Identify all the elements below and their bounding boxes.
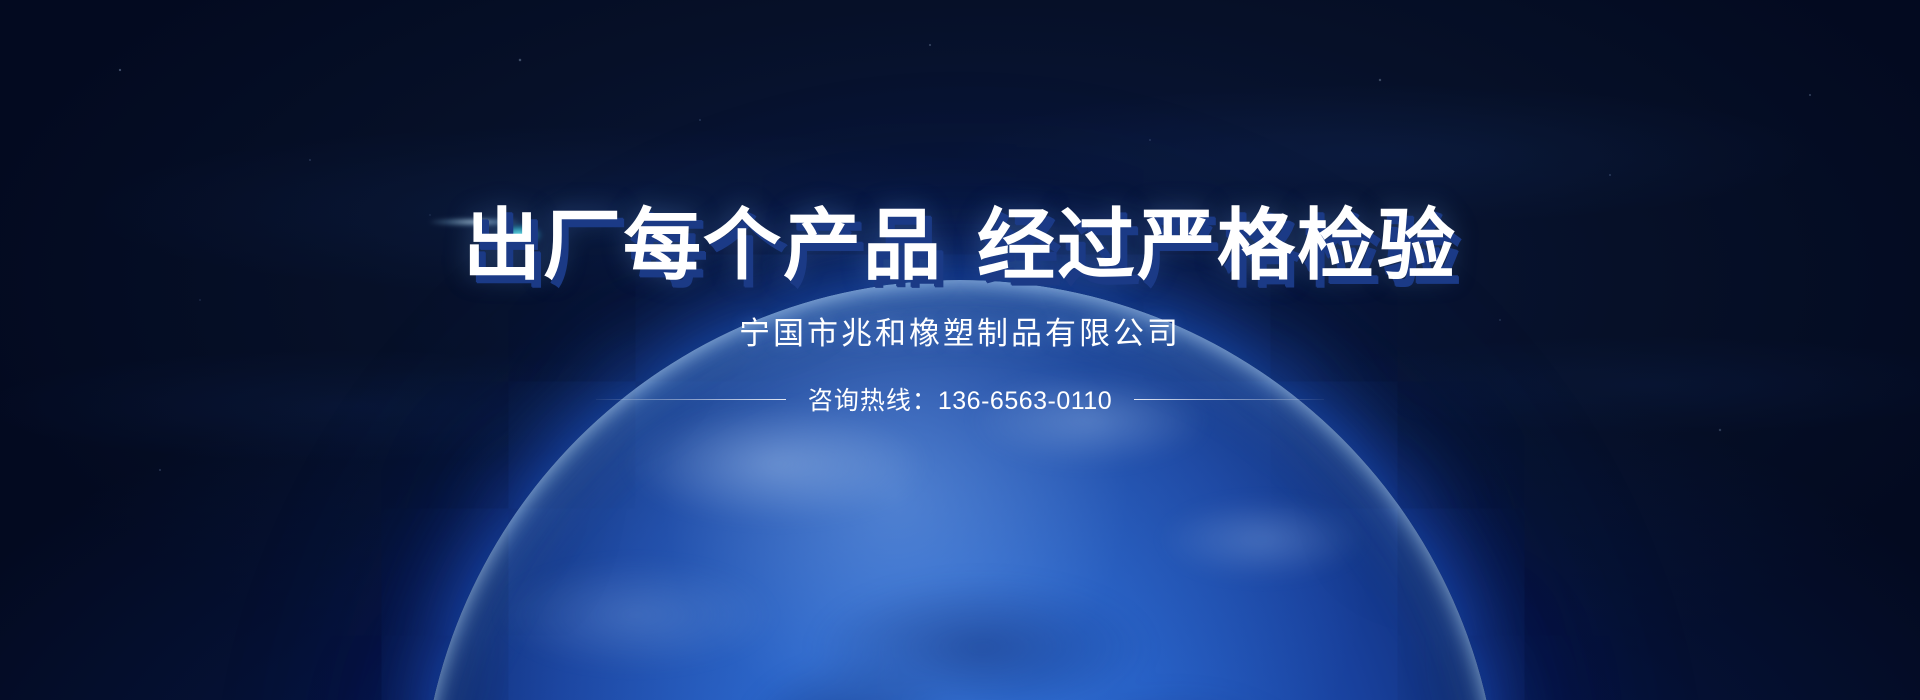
hotline-number: 136-6563-0110 bbox=[938, 387, 1112, 415]
banner-headline: 出厂每个产品经过严格检验 bbox=[463, 206, 1457, 284]
company-name: 宁国市兆和橡塑制品有限公司 bbox=[739, 308, 1181, 353]
divider-right bbox=[1134, 399, 1324, 400]
hotline-row: 咨询热线：136-6563-0110 bbox=[596, 381, 1324, 417]
promo-banner: 出厂每个产品经过严格检验 宁国市兆和橡塑制品有限公司 咨询热线：136-6563… bbox=[0, 0, 1920, 700]
hotline-label: 咨询热线： bbox=[808, 387, 938, 415]
banner-content: 出厂每个产品经过严格检验 宁国市兆和橡塑制品有限公司 咨询热线：136-6563… bbox=[0, 0, 1920, 700]
headline-part-2: 经过严格检验 bbox=[977, 201, 1457, 289]
hotline-text: 咨询热线：136-6563-0110 bbox=[808, 381, 1112, 417]
headline-part-1: 出厂每个产品 bbox=[463, 201, 943, 289]
divider-left bbox=[596, 399, 786, 400]
